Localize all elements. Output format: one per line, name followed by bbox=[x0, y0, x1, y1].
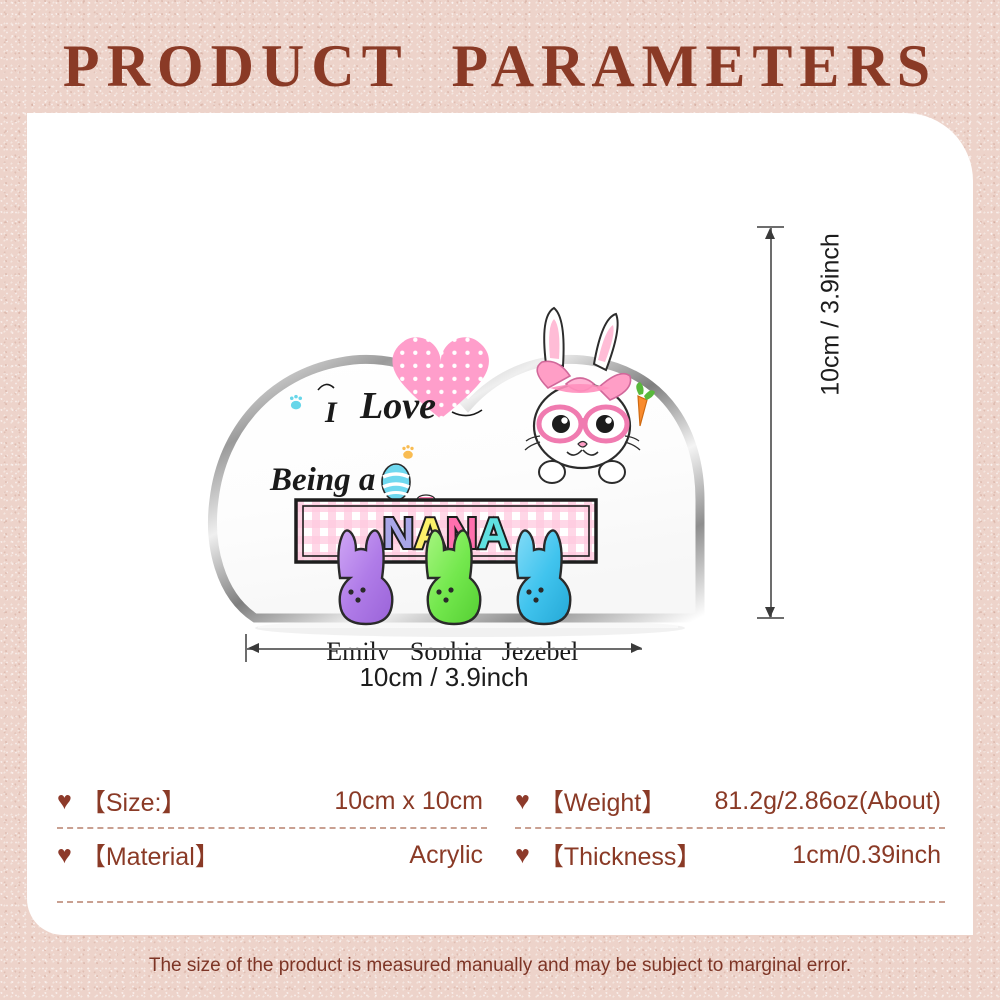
heart-icon: ♥ bbox=[515, 789, 530, 814]
vertical-dimension-arrow-bottom bbox=[765, 607, 775, 618]
horizontal-dimension-line bbox=[246, 648, 642, 650]
spec-row-size: ♥ 【Size:】 10cm x 10cm bbox=[57, 775, 487, 827]
horizontal-dimension-arrow-right bbox=[631, 643, 642, 653]
spec-row-thickness: ♥ 【Thickness】 1cm/0.39inch bbox=[515, 829, 945, 881]
design-text-love: Love bbox=[359, 385, 436, 427]
spec-value-thickness: 1cm/0.39inch bbox=[792, 841, 945, 870]
spec-column-right: ♥ 【Weight】 81.2g/2.86oz(About) ♥ 【Thickn… bbox=[515, 775, 945, 881]
design-text-i: I bbox=[324, 396, 338, 429]
spec-value-weight: 81.2g/2.86oz(About) bbox=[714, 787, 945, 816]
spec-row-weight: ♥ 【Weight】 81.2g/2.86oz(About) bbox=[515, 775, 945, 827]
design-text-being-a: Being a bbox=[269, 462, 375, 498]
heart-icon: ♥ bbox=[57, 843, 72, 868]
spec-label-weight: 【Weight】 bbox=[539, 783, 666, 819]
heart-icon: ♥ bbox=[57, 789, 72, 814]
heart-acrylic-plaque: I Love Being a bbox=[200, 200, 720, 660]
spec-row-material: ♥ 【Material】 Acrylic bbox=[57, 829, 487, 881]
vertical-dimension-label: 10cm / 3.9inch bbox=[817, 190, 846, 440]
spec-divider-bottom bbox=[57, 901, 945, 903]
footer-disclaimer: The size of the product is measured manu… bbox=[0, 955, 1000, 977]
easter-egg-icon bbox=[382, 464, 410, 500]
spec-label-thickness: 【Thickness】 bbox=[539, 837, 702, 873]
vertical-dimension-line bbox=[770, 228, 772, 618]
product-image: I Love Being a bbox=[200, 200, 720, 660]
vertical-dimension-arrow-top bbox=[765, 228, 775, 239]
horizontal-dimension-arrow-left bbox=[248, 643, 259, 653]
spec-label-size: 【Size:】 bbox=[81, 783, 187, 819]
spec-label-material: 【Material】 bbox=[81, 837, 220, 873]
horizontal-dimension-label: 10cm / 3.9inch bbox=[246, 662, 642, 693]
page-title: PRODUCT PARAMETERS bbox=[0, 36, 1000, 96]
spec-value-size: 10cm x 10cm bbox=[334, 787, 487, 816]
spec-value-material: Acrylic bbox=[409, 841, 487, 870]
horizontal-dimension-cap-left bbox=[245, 634, 247, 662]
spec-column-left: ♥ 【Size:】 10cm x 10cm ♥ 【Material】 Acryl… bbox=[57, 775, 487, 881]
heart-icon: ♥ bbox=[515, 843, 530, 868]
